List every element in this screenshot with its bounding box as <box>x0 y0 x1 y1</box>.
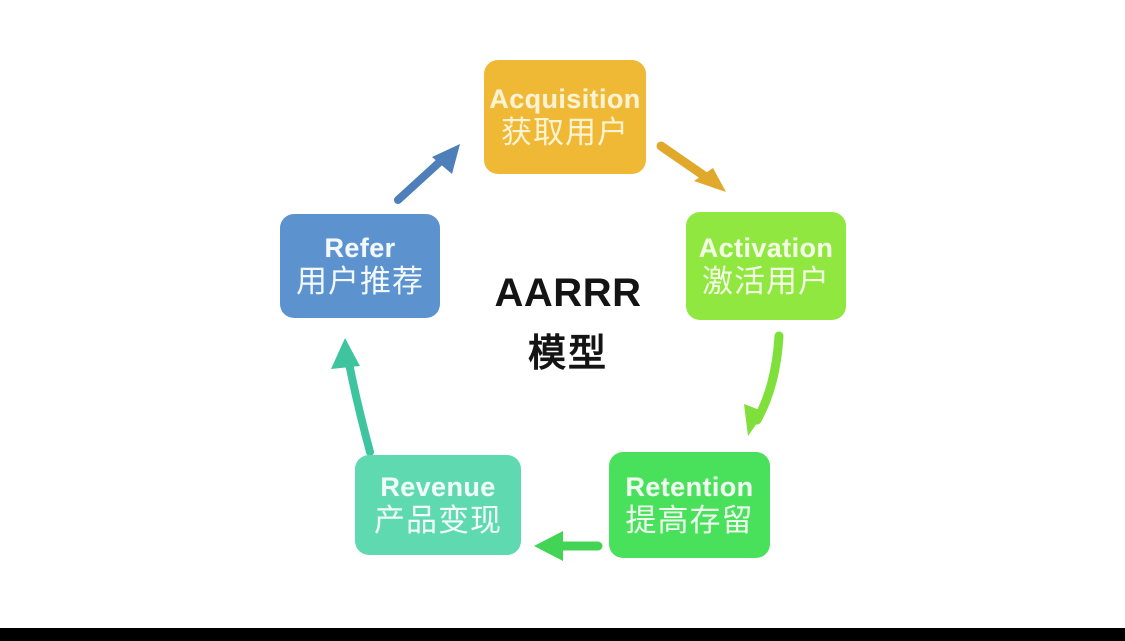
node-refer-label-zh: 用户推荐 <box>296 265 424 300</box>
arrow-activation-to-retention <box>744 336 779 436</box>
node-retention[interactable]: Retention 提高存留 <box>609 452 770 558</box>
center-title: AARRR <box>463 272 673 314</box>
node-revenue-label-en: Revenue <box>380 472 495 502</box>
node-activation-label-zh: 激活用户 <box>702 265 830 300</box>
node-refer-label-en: Refer <box>324 233 395 263</box>
node-acquisition[interactable]: Acquisition 获取用户 <box>484 60 646 174</box>
arrow-acquisition-to-activation <box>661 146 726 192</box>
center-subtitle: 模型 <box>463 322 673 377</box>
node-refer[interactable]: Refer 用户推荐 <box>280 214 440 318</box>
node-retention-label-en: Retention <box>625 472 753 502</box>
node-revenue[interactable]: Revenue 产品变现 <box>355 455 521 555</box>
node-activation-label-en: Activation <box>699 233 834 263</box>
diagram-center-label: AARRR 模型 <box>463 272 673 377</box>
node-acquisition-label-en: Acquisition <box>489 84 640 114</box>
arrow-refer-to-acquisition <box>398 144 460 200</box>
node-acquisition-label-zh: 获取用户 <box>501 116 629 151</box>
arrow-revenue-to-refer <box>331 338 370 452</box>
node-retention-label-zh: 提高存留 <box>626 504 754 539</box>
node-revenue-label-zh: 产品变现 <box>374 504 502 539</box>
letterbox-bottom-bar <box>0 628 1125 641</box>
node-activation[interactable]: Activation 激活用户 <box>686 212 846 320</box>
diagram-canvas: Acquisition 获取用户 Activation 激活用户 Retenti… <box>0 0 1125 641</box>
arrow-retention-to-revenue <box>534 531 598 561</box>
diagram-stage: Acquisition 获取用户 Activation 激活用户 Retenti… <box>0 0 1125 628</box>
